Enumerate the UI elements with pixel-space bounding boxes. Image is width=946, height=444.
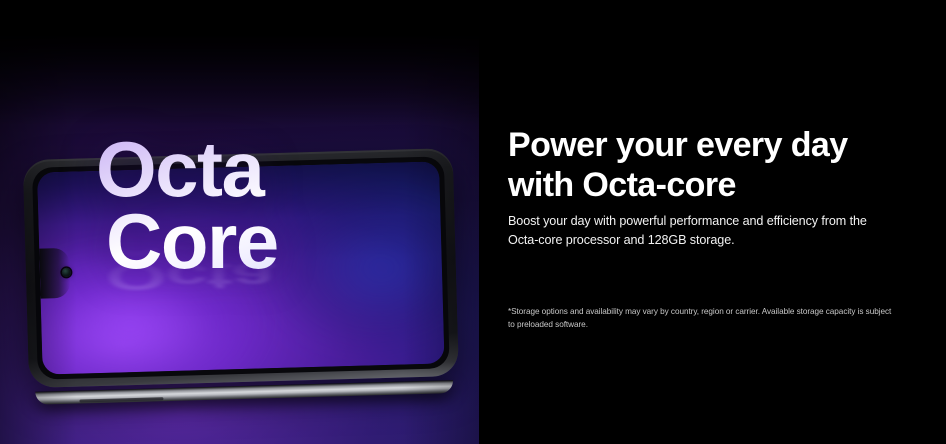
disclaimer-note: *Storage options and availability may va… — [508, 305, 900, 331]
octa-core-promo-banner: Octa Core Octa Core Power your every day… — [0, 0, 946, 444]
product-visual-panel: Octa Core Octa Core — [0, 36, 479, 444]
wordmark-line-core: Core — [106, 206, 396, 278]
octa-core-wordmark: Octa Core — [96, 134, 396, 278]
body-copy: Boost your day with powerful performance… — [508, 212, 888, 249]
headline: Power your every day with Octa-core — [508, 126, 900, 206]
copy-column: Power your every day with Octa-core Boos… — [508, 0, 908, 444]
headline-line-2: with Octa-core — [508, 166, 900, 206]
headline-line-1: Power your every day — [508, 126, 900, 166]
